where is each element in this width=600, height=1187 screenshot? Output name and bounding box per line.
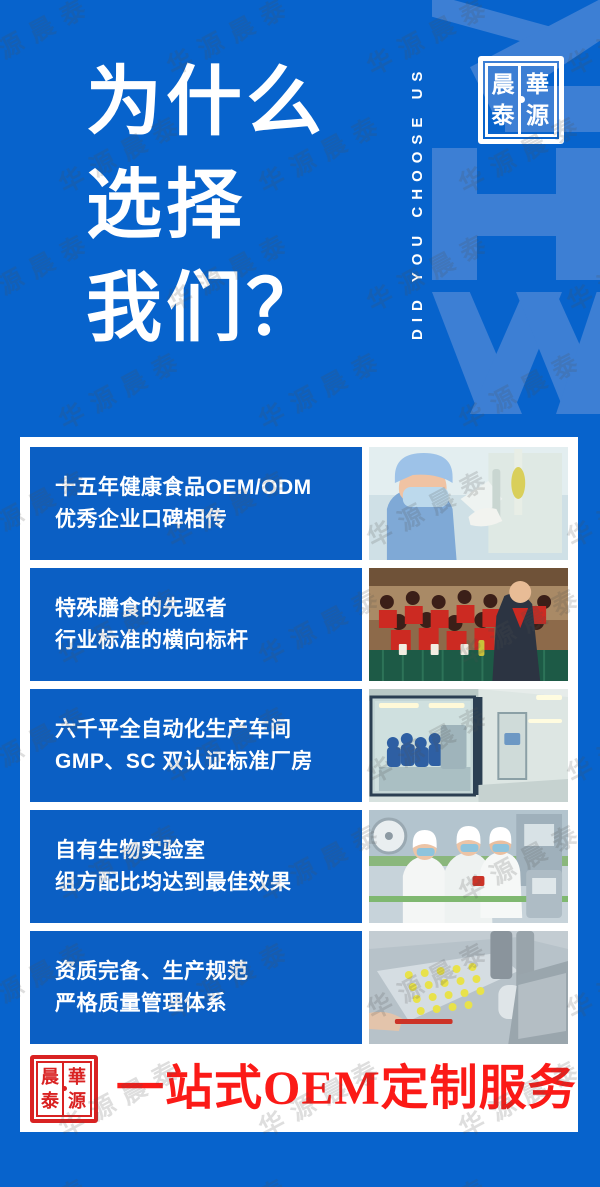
footer-seal-char-left-bottom: 泰 — [41, 1092, 59, 1110]
why-letter-w-stroke-3 — [516, 292, 600, 414]
feature-line-2: 优秀企业口碑相传 — [55, 504, 362, 536]
feature-card: 资质完备、生产规范 严格质量管理体系 — [30, 931, 362, 1044]
feature-card: 自有生物实验室 组方配比均达到最佳效果 — [30, 810, 362, 923]
watermark-text: 华源晨泰 — [560, 1165, 600, 1187]
page-title-line-2: 选择 — [86, 155, 396, 258]
why-letter-h-crossbar — [432, 194, 600, 236]
page-title-line-1: 为什么 — [86, 52, 396, 155]
why-letter-w-stroke-2 — [470, 292, 562, 414]
seal-char-left-top: 晨 — [492, 73, 515, 96]
footer-seal-center-dot — [62, 1086, 67, 1091]
feature-line-1: 特殊膳食的先驱者 — [55, 593, 362, 625]
feature-photo — [369, 810, 568, 923]
footer-slogan-bar: 晨 泰 華 源 一站式OEM定制服务 — [30, 1054, 568, 1124]
feature-row[interactable]: 十五年健康食品OEM/ODM 优秀企业口碑相传 — [30, 447, 568, 560]
footer-seal-column-right: 華 源 — [64, 1063, 90, 1115]
brand-seal-icon: 晨 泰 華 源 — [478, 56, 564, 144]
features-panel: 十五年健康食品OEM/ODM 优秀企业口碑相传 — [20, 437, 578, 1132]
watermark-text: 华源晨泰 — [560, 221, 600, 319]
feature-row[interactable]: 资质完备、生产规范 严格质量管理体系 — [30, 931, 568, 1044]
feature-line-1: 自有生物实验室 — [55, 835, 362, 867]
feature-line-2: 行业标准的横向标杆 — [55, 625, 362, 657]
feature-photo — [369, 447, 568, 560]
feature-line-2: 严格质量管理体系 — [55, 988, 362, 1020]
poster-root: 为什么 选择 我们？ DID YOU CHOOSE US 晨 泰 華 源 十五年… — [0, 0, 600, 1187]
feature-row[interactable]: 自有生物实验室 组方配比均达到最佳效果 — [30, 810, 568, 923]
watermark-text: 华源晨泰 — [452, 339, 593, 437]
footer-seal-char-left-top: 晨 — [41, 1068, 59, 1086]
why-letter-h-right-stem — [556, 148, 600, 280]
feature-row[interactable]: 特殊膳食的先驱者 行业标准的横向标杆 — [30, 568, 568, 681]
feature-line-1: 六千平全自动化生产车间 — [55, 714, 362, 746]
seal-column-left: 晨 泰 — [488, 66, 521, 134]
seal-char-right-top: 華 — [526, 73, 549, 96]
feature-card: 特殊膳食的先驱者 行业标准的横向标杆 — [30, 568, 362, 681]
vertical-subtitle: DID YOU CHOOSE US — [409, 12, 449, 392]
feature-line-1: 资质完备、生产规范 — [55, 956, 362, 988]
seal-char-right-bottom: 源 — [526, 104, 549, 127]
watermark-text: 华源晨泰 — [560, 0, 600, 83]
why-letter-y-arm-left — [432, 0, 567, 54]
footer-seal-char-right-bottom: 源 — [68, 1092, 86, 1110]
feature-photo — [369, 931, 568, 1044]
features-list: 十五年健康食品OEM/ODM 优秀企业口碑相传 — [30, 447, 568, 1044]
footer-slogan-text: 一站式OEM定制服务 — [116, 1065, 577, 1113]
feature-line-2: 组方配比均达到最佳效果 — [55, 867, 362, 899]
watermark-text: 华源晨泰 — [0, 1165, 100, 1187]
page-title-line-3: 我们？ — [86, 258, 396, 361]
watermark-text: 华源晨泰 — [160, 1165, 301, 1187]
watermark-text: 华源晨泰 — [360, 1165, 501, 1187]
footer-seal-char-right-top: 華 — [68, 1068, 86, 1086]
feature-line-1: 十五年健康食品OEM/ODM — [55, 472, 362, 504]
feature-line-2: GMP、SC 双认证标准厂房 — [55, 746, 362, 778]
page-title: 为什么 选择 我们？ — [86, 52, 396, 361]
footer-seal-column-left: 晨 泰 — [38, 1063, 64, 1115]
why-letter-w-stroke-4 — [556, 292, 600, 414]
seal-char-left-bottom: 泰 — [492, 104, 515, 127]
feature-card: 十五年健康食品OEM/ODM 优秀企业口碑相传 — [30, 447, 362, 560]
feature-photo — [369, 689, 568, 802]
feature-card: 六千平全自动化生产车间 GMP、SC 双认证标准厂房 — [30, 689, 362, 802]
feature-row[interactable]: 六千平全自动化生产车间 GMP、SC 双认证标准厂房 — [30, 689, 568, 802]
footer-seal-icon: 晨 泰 華 源 — [30, 1055, 98, 1123]
seal-column-right: 華 源 — [521, 66, 554, 134]
feature-photo — [369, 568, 568, 681]
